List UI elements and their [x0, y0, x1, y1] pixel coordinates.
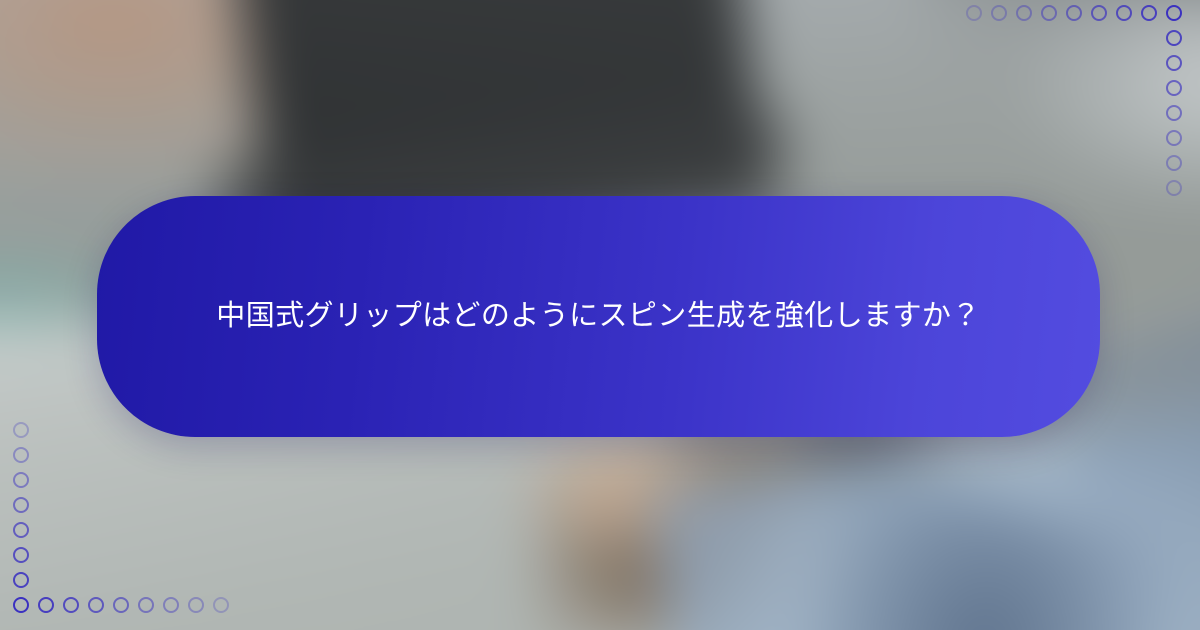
- decorative-dot: [1166, 105, 1182, 121]
- social-card-stage: 中国式グリップはどのようにスピン生成を強化しますか？: [0, 0, 1200, 630]
- decorative-dot: [13, 597, 29, 613]
- decorative-dot: [113, 597, 129, 613]
- decorative-dot: [13, 547, 29, 563]
- decorative-dot: [991, 5, 1007, 21]
- decorative-dot: [188, 597, 204, 613]
- decorative-dot: [1166, 180, 1182, 196]
- decorative-dot: [1166, 55, 1182, 71]
- decorative-dot: [1141, 5, 1157, 21]
- decorative-dot: [63, 597, 79, 613]
- decorative-dot: [13, 497, 29, 513]
- decorative-dot: [163, 597, 179, 613]
- decorative-dot: [88, 597, 104, 613]
- decorative-dot: [1116, 5, 1132, 21]
- decorative-dot: [1091, 5, 1107, 21]
- decorative-dot: [1166, 80, 1182, 96]
- decorative-dot: [13, 522, 29, 538]
- decorative-dot: [1066, 5, 1082, 21]
- decorative-dot: [13, 572, 29, 588]
- question-title: 中国式グリップはどのようにスピン生成を強化しますか？: [120, 288, 1076, 345]
- decorative-dot: [966, 5, 982, 21]
- decorative-dot: [13, 447, 29, 463]
- decorative-dot: [13, 472, 29, 488]
- decorative-dot: [1016, 5, 1032, 21]
- decorative-dot: [1166, 30, 1182, 46]
- decorative-dot: [138, 597, 154, 613]
- decorative-dot: [213, 597, 229, 613]
- decorative-dot: [1166, 130, 1182, 146]
- decorative-dot: [1041, 5, 1057, 21]
- question-card: 中国式グリップはどのようにスピン生成を強化しますか？: [97, 196, 1100, 437]
- decorative-dot: [38, 597, 54, 613]
- decorative-dot: [1166, 5, 1182, 21]
- decorative-dot: [13, 422, 29, 438]
- decorative-dot: [1166, 155, 1182, 171]
